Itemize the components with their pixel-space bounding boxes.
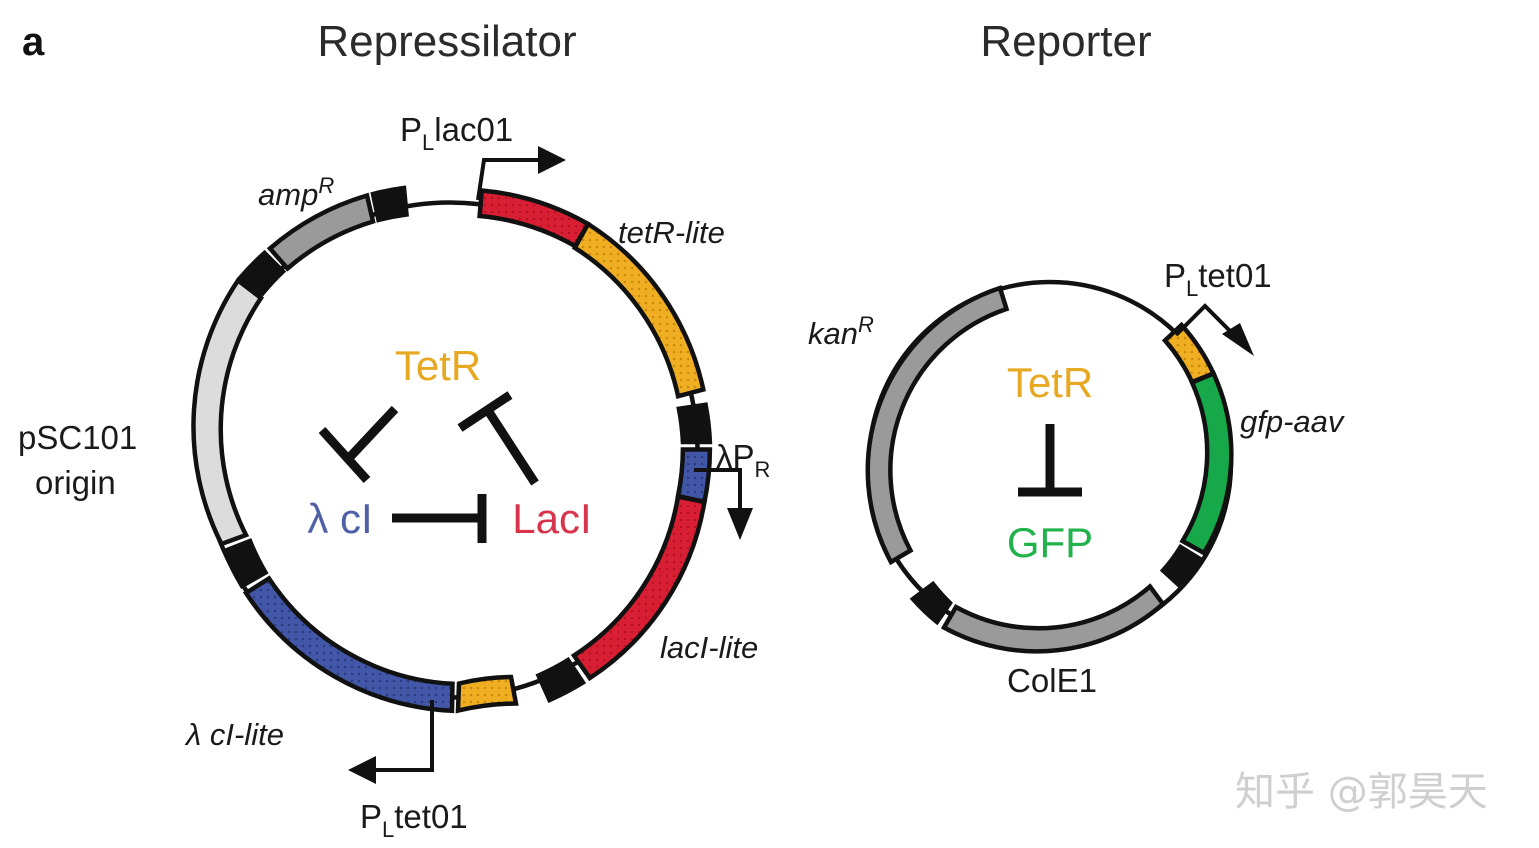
network-node-gfp: GFP — [1007, 519, 1093, 566]
segment-lambdapr-promoter — [678, 450, 710, 503]
label-tetr-lite: tetR-lite — [618, 215, 725, 250]
network-node-tetr-reporter: TetR — [1007, 359, 1093, 406]
network-node-laci: LacI — [512, 495, 591, 542]
watermark: 知乎 @郭昊天 — [1235, 769, 1488, 815]
reporter-title: Reporter — [980, 17, 1151, 66]
repressilator-title: Repressilator — [317, 17, 576, 66]
segment-pltet01-promoter — [458, 677, 516, 711]
label-lambda-ci-lite: λ cI-lite — [184, 717, 284, 752]
label-laci-lite: lacI-lite — [660, 630, 758, 665]
network-node-lambda-ci: λ cI — [307, 495, 372, 542]
label-cole1-origin: ColE1 — [1007, 662, 1097, 699]
segment-terminator-right-upper — [679, 405, 710, 442]
label-psc101-origin-line1: pSC101 — [18, 419, 137, 456]
label-gfp-aav: gfp-aav — [1240, 404, 1345, 439]
figure-panel-a: a Repressilator Reporter — [0, 0, 1539, 848]
label-psc101-origin-line2: origin — [35, 464, 116, 501]
network-node-tetr: TetR — [395, 342, 481, 389]
panel-label: a — [22, 20, 45, 64]
segment-terminator-top — [373, 188, 407, 220]
